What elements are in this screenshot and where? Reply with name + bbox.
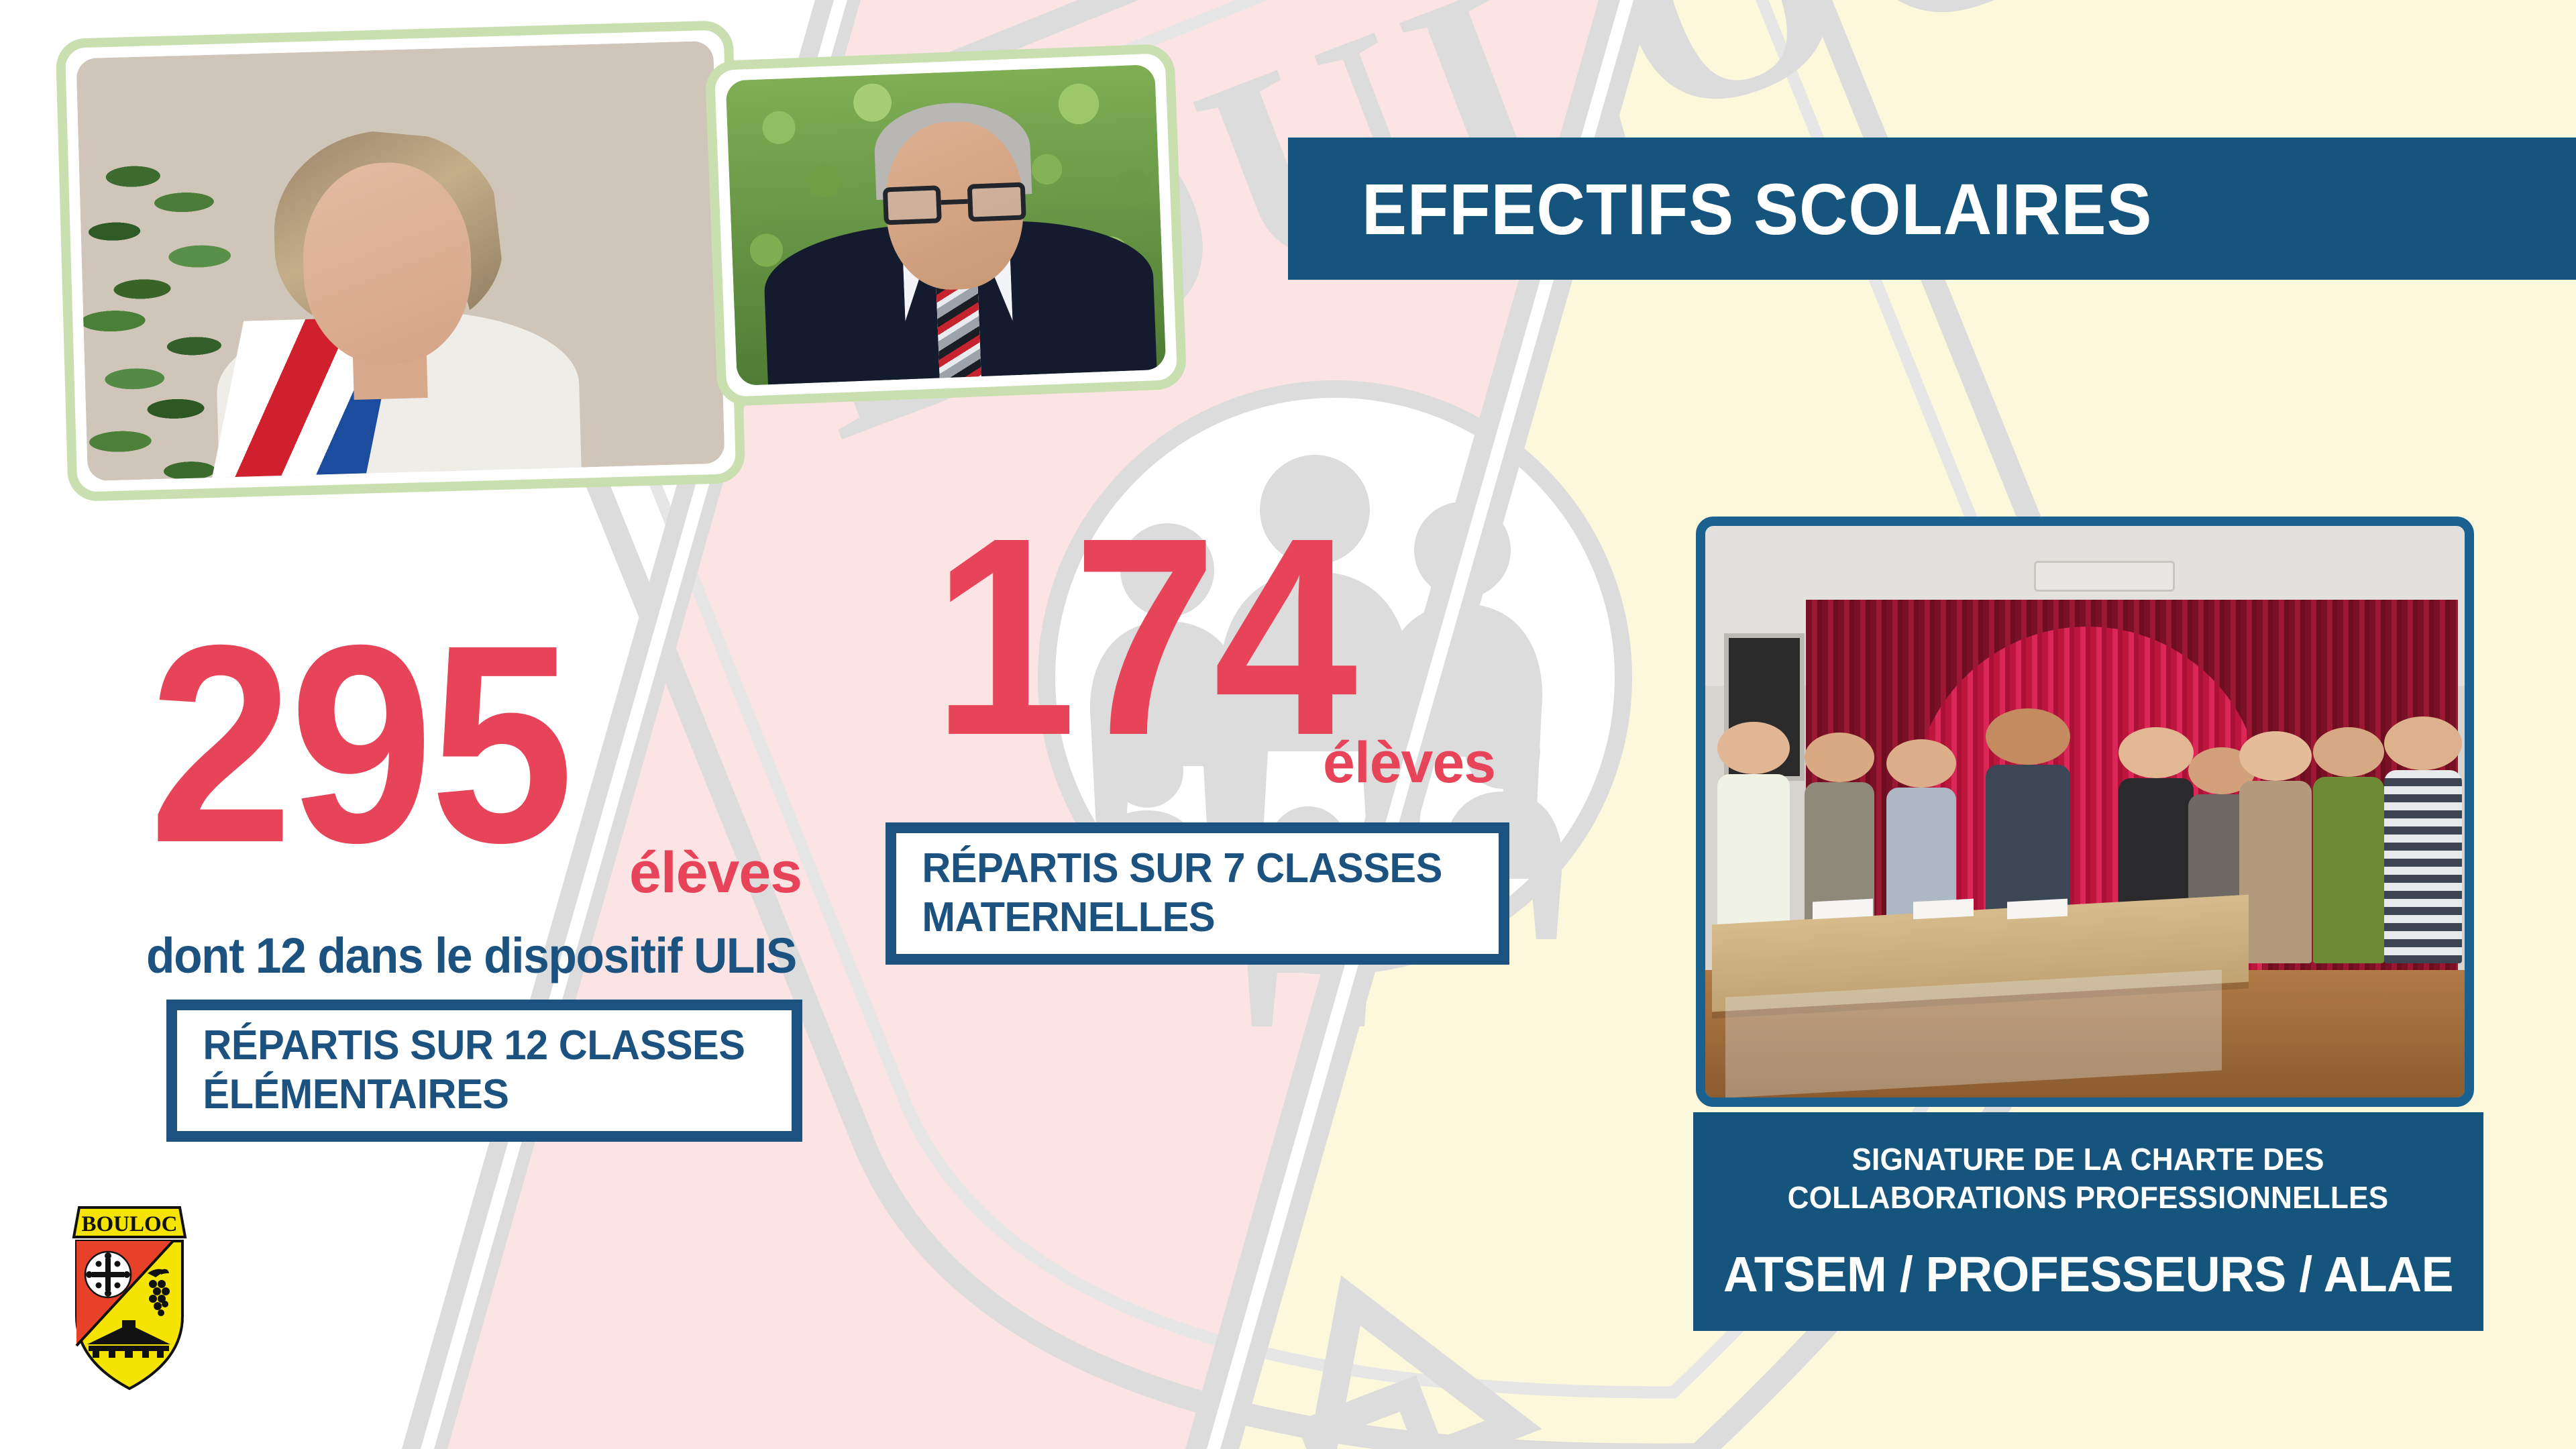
photo-frame-deputy-portrait [704,44,1187,407]
stat-unit-maternelle: élèves [1323,730,1495,796]
glasses-icon [883,182,1026,225]
document-paper [1813,899,1873,920]
stat-number-elementaire: 295 [149,629,570,860]
bouloc-coat-of-arms-logo: BOULOC [52,1202,207,1397]
person-in-group [2239,731,2312,963]
page-title: EFFECTIFS SCOLAIRES [1362,167,2152,251]
photo-frame-charter-signature [1696,517,2474,1107]
stat-box-elementaire: RÉPARTIS SUR 12 CLASSES ÉLÉMENTAIRES [166,1000,802,1142]
caption-subtitle: SIGNATURE DE LA CHARTE DES COLLABORATION… [1788,1140,2389,1216]
stat-box-maternelle: RÉPARTIS SUR 7 CLASSES MATERNELLES [885,822,1509,965]
page-title-bar: EFFECTIFS SCOLAIRES [1288,138,2576,280]
stat-unit-elementaire: élèves [629,840,802,906]
photo-caption-bar: SIGNATURE DE LA CHARTE DES COLLABORATION… [1693,1112,2483,1331]
photo-frame-mayor-portrait [56,20,746,502]
stat-box-label-elementaire: RÉPARTIS SUR 12 CLASSES ÉLÉMENTAIRES [177,1022,745,1119]
stat-note-ulis: dont 12 dans le dispositif ULIS [146,927,796,984]
photo-mayor-portrait [76,41,724,481]
caption-title: ATSEM / PROFESSEURS / ALAE [1723,1246,2453,1303]
stat-number-maternelle: 174 [932,522,1354,753]
stat-box-label-maternelle: RÉPARTIS SUR 7 CLASSES MATERNELLES [896,845,1442,942]
photo-deputy-portrait [726,64,1167,386]
document-paper [1913,899,1974,920]
person-in-group [2384,716,2462,963]
logo-banner-text: BOULOC [81,1212,177,1236]
air-conditioner-icon [2034,561,2175,592]
person-in-group [2313,727,2384,963]
document-paper [2007,899,2068,920]
photo-charter-signature-group [1705,526,2465,1097]
